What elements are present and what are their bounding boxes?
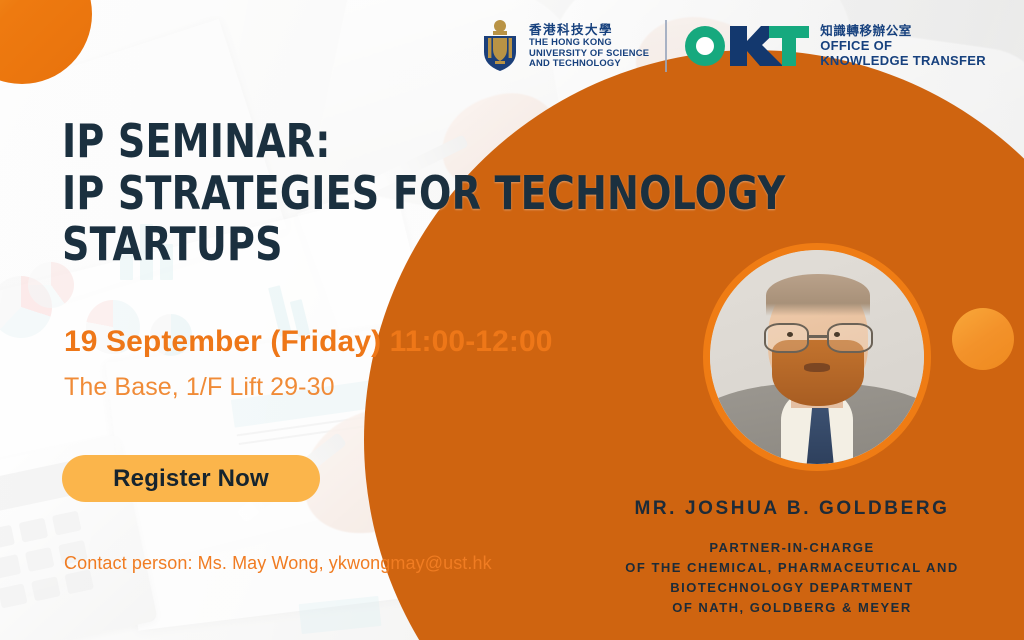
title-line-2: IP STRATEGIES FOR TECHNOLOGY (62, 168, 761, 220)
speaker-role-line-1: PARTNER-IN-CHARGE (560, 538, 1024, 558)
event-datetime: 19 September (Friday) 11:00-12:00 (64, 325, 553, 359)
seminar-title: IP SEMINAR: IP STRATEGIES FOR TECHNOLOGY… (62, 116, 761, 271)
logo-bar: 香港科技大學 THE HONG KONG UNIVERSITY OF SCIEN… (480, 14, 986, 78)
hkust-chinese-name: 香港科技大學 (529, 23, 649, 37)
contact-person-line: Contact person: Ms. May Wong, ykwongmay@… (64, 553, 492, 574)
hkust-logo: 香港科技大學 THE HONG KONG UNIVERSITY OF SCIEN… (480, 19, 649, 73)
speaker-headshot-image (710, 250, 924, 464)
speaker-role-line-2: OF THE CHEMICAL, PHARMACEUTICAL AND (560, 558, 1024, 578)
eyeglasses-icon (764, 323, 873, 353)
event-venue: The Base, 1/F Lift 29-30 (64, 373, 335, 402)
speaker-role-line-3: BIOTECHNOLOGY DEPARTMENT (560, 578, 1024, 598)
small-circle-decoration (952, 308, 1014, 370)
logo-divider (665, 20, 667, 72)
hkust-crest-icon (480, 19, 520, 73)
hkust-english-line-3: AND TECHNOLOGY (529, 58, 649, 69)
speaker-role-line-4: OF NATH, GOLDBERG & MEYER (560, 598, 1024, 618)
speaker-photo (703, 243, 931, 471)
okt-logo: 知識轉移辦公室 OFFICE OF KNOWLEDGE TRANSFER (683, 22, 986, 70)
speaker-name: MR. JOSHUA B. GOLDBERG (560, 498, 1024, 520)
register-now-button[interactable]: Register Now (62, 455, 320, 502)
okt-english-line-2: KNOWLEDGE TRANSFER (820, 53, 986, 68)
speaker-role: PARTNER-IN-CHARGE OF THE CHEMICAL, PHARM… (560, 538, 1024, 619)
okt-english-line-1: OFFICE OF (820, 38, 986, 53)
title-line-3: STARTUPS (62, 219, 761, 271)
okt-wordmark-icon (683, 22, 809, 70)
poster-canvas: 香港科技大學 THE HONG KONG UNIVERSITY OF SCIEN… (0, 0, 1024, 640)
title-line-1: IP SEMINAR: (62, 116, 761, 168)
okt-chinese-name: 知識轉移辦公室 (820, 24, 986, 39)
